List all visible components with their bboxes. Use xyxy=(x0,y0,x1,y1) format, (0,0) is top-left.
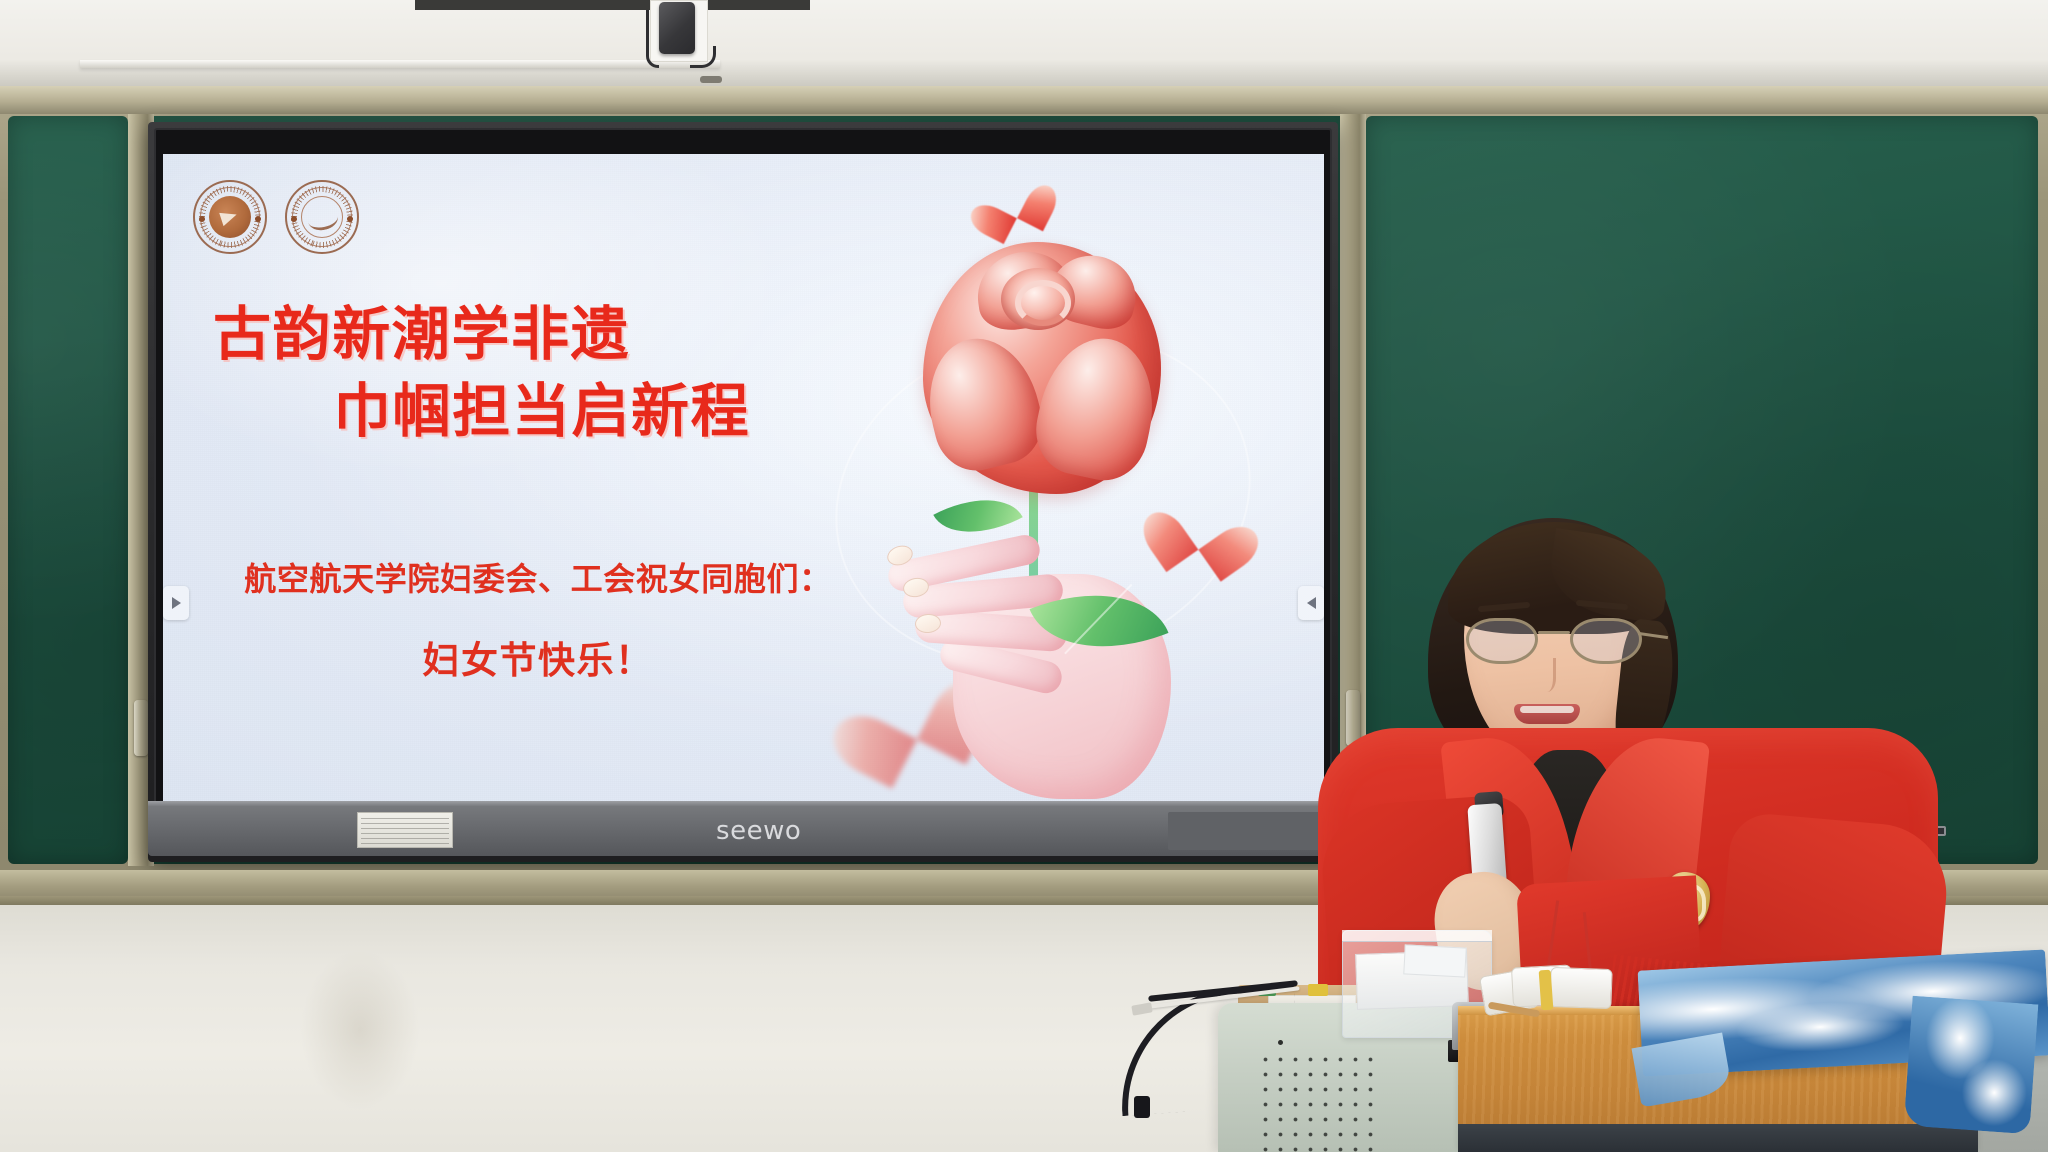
seal-dot-right xyxy=(347,216,353,222)
slide-subtitle-line-2: 妇女节快乐！ xyxy=(193,630,883,684)
sticker-text-lines xyxy=(361,816,449,844)
chalkboard-panel-left xyxy=(8,116,128,864)
cable-connector-black xyxy=(1134,1096,1150,1118)
presenter-teeth xyxy=(1520,706,1574,713)
display-screen[interactable]: 古韵新潮学非遗 巾帼担当启新程 航空航天学院妇委会、工会祝女同胞们： 妇女节快乐… xyxy=(163,154,1324,801)
glasses-lens-left xyxy=(1466,618,1538,664)
glasses-bridge xyxy=(1538,631,1570,634)
bag-zip-seal xyxy=(1342,930,1492,942)
seal-emblem xyxy=(301,196,343,238)
rose-illustration xyxy=(923,242,1161,494)
podium-base xyxy=(1458,1124,1978,1152)
hand-illustration xyxy=(881,514,1181,799)
screen-left-panel-tab[interactable] xyxy=(163,586,189,620)
glasses-lens-right xyxy=(1570,618,1642,664)
board-slide-handle-left[interactable] xyxy=(134,700,148,756)
yellow-clip xyxy=(1308,984,1328,996)
slide-subtitle-line-1: 航空航天学院妇委会、工会祝女同胞们： xyxy=(193,554,883,600)
ceiling-strip xyxy=(415,0,810,10)
slide-artwork xyxy=(793,164,1323,801)
seal-dot-left xyxy=(199,216,205,222)
chevron-right-icon xyxy=(172,597,181,609)
slide-seal-group xyxy=(193,180,359,254)
chevron-left-icon xyxy=(1307,597,1316,609)
slide-title: 古韵新潮学非遗 巾帼担当启新程 xyxy=(203,304,863,443)
seal-dot-left xyxy=(291,216,297,222)
cloth-drape-right xyxy=(1904,996,2039,1134)
wall-smudge xyxy=(300,950,420,1110)
scroll-3 xyxy=(1549,967,1612,1009)
display-brand-logo: seewo xyxy=(716,816,801,846)
rolled-scrolls xyxy=(1482,966,1612,1010)
college-seal-icon xyxy=(285,180,359,254)
seal-dot-right xyxy=(255,216,261,222)
glasses-icon xyxy=(1466,618,1648,666)
slide-title-line-2: 巾帼担当启新程 xyxy=(203,381,863,442)
display-sticker-label xyxy=(357,812,453,848)
slide-subtitle: 航空航天学院妇委会、工会祝女同胞们： 妇女节快乐！ xyxy=(193,554,883,684)
power-adapter-device xyxy=(659,2,695,54)
slide-title-line-1: 古韵新潮学非遗 xyxy=(203,304,863,365)
speaker-grille xyxy=(1258,1052,1382,1152)
bag-paper-2 xyxy=(1403,944,1466,977)
heart-icon-top xyxy=(976,168,1048,237)
presenter-nose xyxy=(1534,658,1556,692)
cabinet-indicator-hole xyxy=(1278,1040,1283,1045)
bezel-highlight xyxy=(148,801,1338,806)
blackboard-frame-top xyxy=(0,86,2048,114)
classroom-scene: 古韵新潮学非遗 巾帼担当启新程 航空航天学院妇委会、工会祝女同胞们： 妇女节快乐… xyxy=(0,0,2048,1152)
university-seal-icon xyxy=(193,180,267,254)
seal-emblem xyxy=(209,196,251,238)
rose-center xyxy=(1001,268,1075,330)
